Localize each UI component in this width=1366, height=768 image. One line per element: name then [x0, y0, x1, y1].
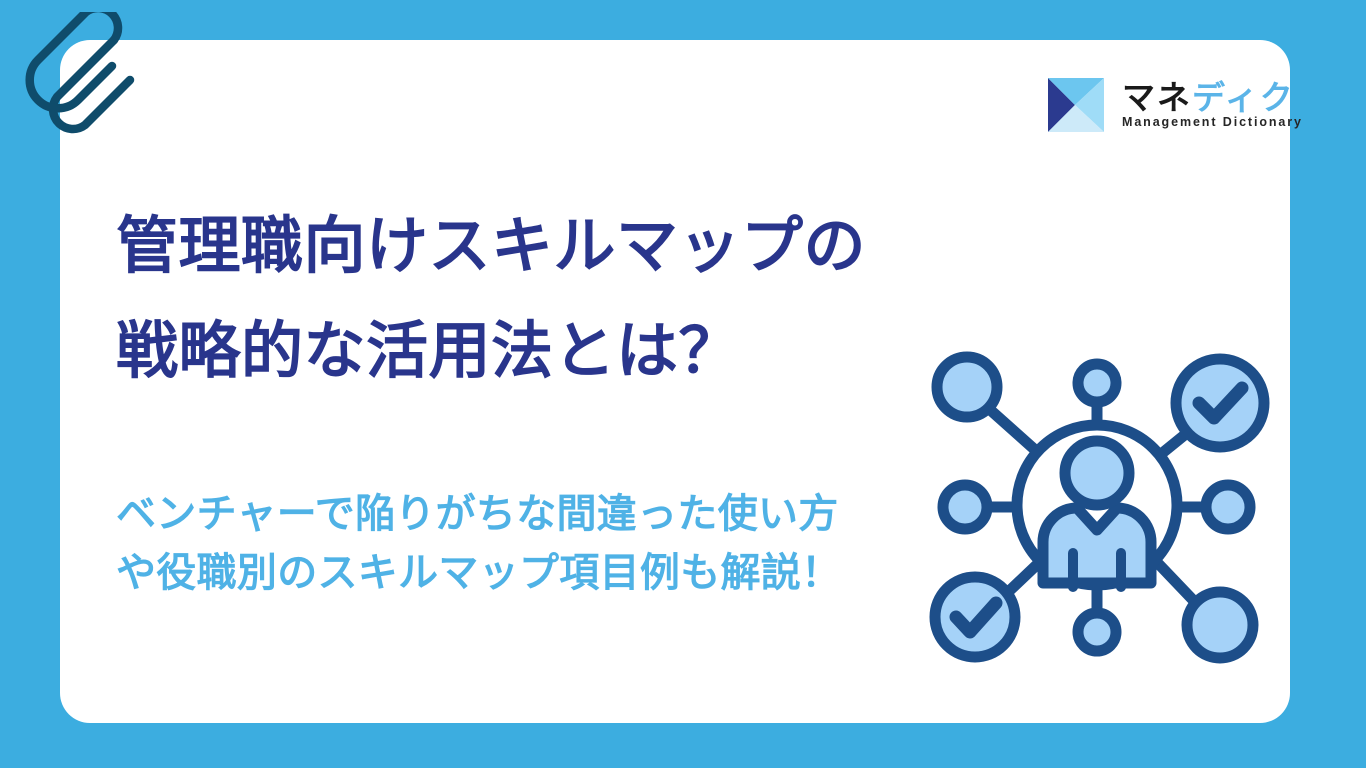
logo-kana-blue: ディク	[1192, 79, 1295, 116]
logo-text-block: マネディク Management Dictionary	[1122, 81, 1303, 129]
node-top-small	[1078, 364, 1116, 402]
logo-kana: マネディク	[1122, 81, 1303, 114]
page-subtitle: ベンチャーで陥りがちな間違った使い方 や役職別のスキルマップ項目例も解説！	[116, 485, 946, 603]
page-title-line-2: 戦略的な活用法とは？	[116, 299, 1016, 404]
node-left-small	[943, 485, 987, 529]
logo-kana-dark: マネ	[1122, 79, 1192, 116]
logo-subtitle: Management Dictionary	[1122, 116, 1303, 129]
manedic-logo-mark-icon	[1044, 76, 1108, 134]
page-title-line-1: 管理職向けスキルマップの	[116, 194, 1016, 299]
node-bottom-small	[1078, 613, 1116, 651]
paperclip-icon	[18, 12, 146, 140]
page-subtitle-line-2: や役職別のスキルマップ項目例も解説！	[116, 544, 946, 603]
skill-map-network-illustration	[925, 345, 1270, 665]
poster-canvas: マネディク Management Dictionary 管理職向けスキルマップの…	[0, 0, 1366, 768]
node-right-small	[1206, 485, 1250, 529]
page-subtitle-line-1: ベンチャーで陥りがちな間違った使い方	[116, 485, 946, 544]
node-bottom-right-large	[1187, 592, 1253, 658]
node-top-left-large	[937, 357, 997, 417]
page-title: 管理職向けスキルマップの 戦略的な活用法とは？	[116, 194, 1016, 405]
person-head-icon	[1065, 441, 1129, 505]
brand-logo: マネディク Management Dictionary	[1044, 72, 1294, 138]
